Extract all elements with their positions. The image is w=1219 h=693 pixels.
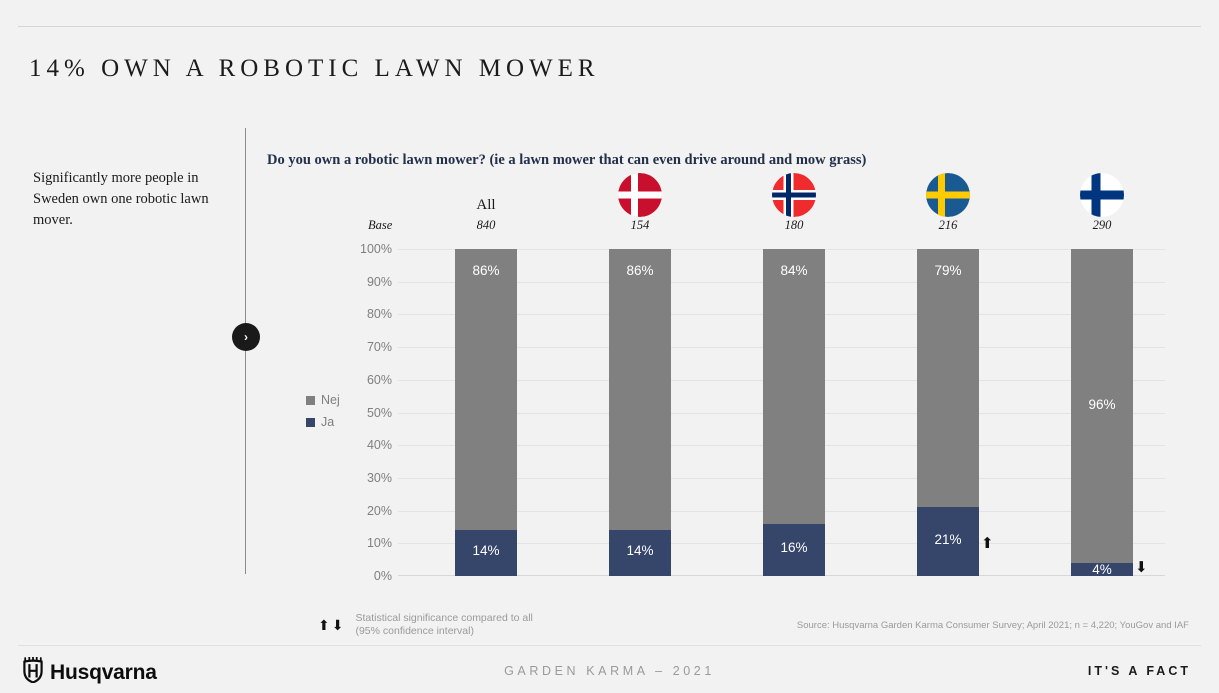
- sweden-flag-icon: [926, 173, 970, 217]
- significance-down-arrow-finland: ⬇: [1135, 560, 1148, 575]
- slide-canvas: 14% OWN A ROBOTIC LAWN MOWER Significant…: [0, 0, 1219, 693]
- column-base-all: 840: [424, 218, 548, 233]
- significance-arrows-icon: ⬆⬇: [318, 617, 345, 634]
- column-header-norway: 180: [732, 170, 856, 232]
- bar-column-norway[interactable]: 84% 16%: [763, 249, 825, 576]
- top-divider: [18, 26, 1201, 27]
- footer-tagline: IT'S A FACT: [1088, 664, 1191, 678]
- bar-label-nej-all: 86%: [455, 263, 517, 278]
- significance-footnote-text: Statistical significance compared to all…: [355, 612, 532, 638]
- legend-item-ja[interactable]: Ja: [306, 411, 340, 433]
- bar-column-sweden[interactable]: 79% 21%: [917, 249, 979, 576]
- denmark-flag-icon: [618, 173, 662, 217]
- bar-column-denmark[interactable]: 86% 14%: [609, 249, 671, 576]
- bar-label-nej-denmark: 86%: [609, 263, 671, 278]
- significance-footnote-line1: Statistical significance compared to all: [355, 612, 532, 625]
- significance-footnote: ⬆⬇ Statistical significance compared to …: [318, 612, 533, 638]
- column-base-sweden: 216: [886, 218, 1010, 233]
- next-slide-knob-button[interactable]: ›: [232, 323, 260, 351]
- footer-deck-title: GARDEN KARMA – 2021: [0, 664, 1219, 678]
- significance-up-arrow-sweden: ⬆: [981, 536, 994, 551]
- y-tick-10: 10%: [330, 536, 392, 550]
- bar-segment-nej-norway[interactable]: 84%: [763, 249, 825, 524]
- column-title-all: All: [424, 197, 548, 214]
- y-tick-70: 70%: [330, 340, 392, 354]
- bar-label-ja-all: 14%: [455, 543, 517, 558]
- section-divider-line: [245, 128, 246, 574]
- bar-segment-ja-finland[interactable]: 4%: [1071, 563, 1133, 576]
- column-header-finland: 290: [1040, 170, 1164, 232]
- bar-label-ja-finland: 4%: [1071, 562, 1133, 577]
- y-tick-0: 0%: [330, 569, 392, 583]
- column-header-sweden: 216: [886, 170, 1010, 232]
- y-tick-40: 40%: [330, 438, 392, 452]
- y-tick-30: 30%: [330, 471, 392, 485]
- legend-item-nej[interactable]: Nej: [306, 389, 340, 411]
- bar-column-finland[interactable]: 96% 4%: [1071, 249, 1133, 576]
- finland-flag-icon: [1080, 173, 1124, 217]
- bar-segment-nej-finland[interactable]: 96%: [1071, 249, 1133, 563]
- column-headers: All 840 154 180: [424, 170, 1164, 232]
- bar-label-nej-finland: 96%: [1071, 397, 1133, 412]
- bar-column-all[interactable]: 86% 14%: [455, 249, 517, 576]
- footer-divider: [18, 645, 1201, 646]
- y-tick-20: 20%: [330, 504, 392, 518]
- bar-label-ja-sweden: 21%: [917, 532, 979, 547]
- bar-segment-nej-denmark[interactable]: 86%: [609, 249, 671, 530]
- legend-label-nej: Nej: [321, 393, 340, 407]
- y-tick-80: 80%: [330, 307, 392, 321]
- norway-flag-icon: [772, 173, 816, 217]
- key-takeaway-text: Significantly more people in Sweden own …: [33, 168, 223, 231]
- column-base-denmark: 154: [578, 218, 702, 233]
- bar-segment-ja-norway[interactable]: 16%: [763, 524, 825, 576]
- y-tick-60: 60%: [330, 373, 392, 387]
- y-tick-100: 100%: [330, 242, 392, 256]
- page-title: 14% OWN A ROBOTIC LAWN MOWER: [29, 55, 600, 83]
- bar-label-nej-norway: 84%: [763, 263, 825, 278]
- legend-swatch-nej: [306, 396, 315, 405]
- bar-segment-ja-sweden[interactable]: 21%: [917, 507, 979, 576]
- significance-footnote-line2: (95% confidence interval): [355, 625, 532, 638]
- source-note: Source: Husqvarna Garden Karma Consumer …: [797, 620, 1189, 631]
- legend-label-ja: Ja: [321, 415, 334, 429]
- column-header-all: All 840: [424, 170, 548, 232]
- base-row-label: Base: [368, 218, 392, 233]
- bar-segment-ja-denmark[interactable]: 14%: [609, 530, 671, 576]
- bar-segment-nej-sweden[interactable]: 79%: [917, 249, 979, 507]
- bar-segment-ja-all[interactable]: 14%: [455, 530, 517, 576]
- column-header-denmark: 154: [578, 170, 702, 232]
- y-tick-90: 90%: [330, 275, 392, 289]
- column-base-norway: 180: [732, 218, 856, 233]
- bar-label-nej-sweden: 79%: [917, 263, 979, 278]
- bar-label-ja-denmark: 14%: [609, 543, 671, 558]
- chart-plot-area: 86% 14% 86% 14% 84% 16%: [398, 249, 1165, 576]
- legend-swatch-ja: [306, 418, 315, 427]
- chart-legend: Nej Ja: [306, 389, 340, 433]
- bar-label-ja-norway: 16%: [763, 540, 825, 555]
- column-base-finland: 290: [1040, 218, 1164, 233]
- bar-segment-nej-all[interactable]: 86%: [455, 249, 517, 530]
- chart-question-label: Do you own a robotic lawn mower? (ie a l…: [267, 152, 866, 169]
